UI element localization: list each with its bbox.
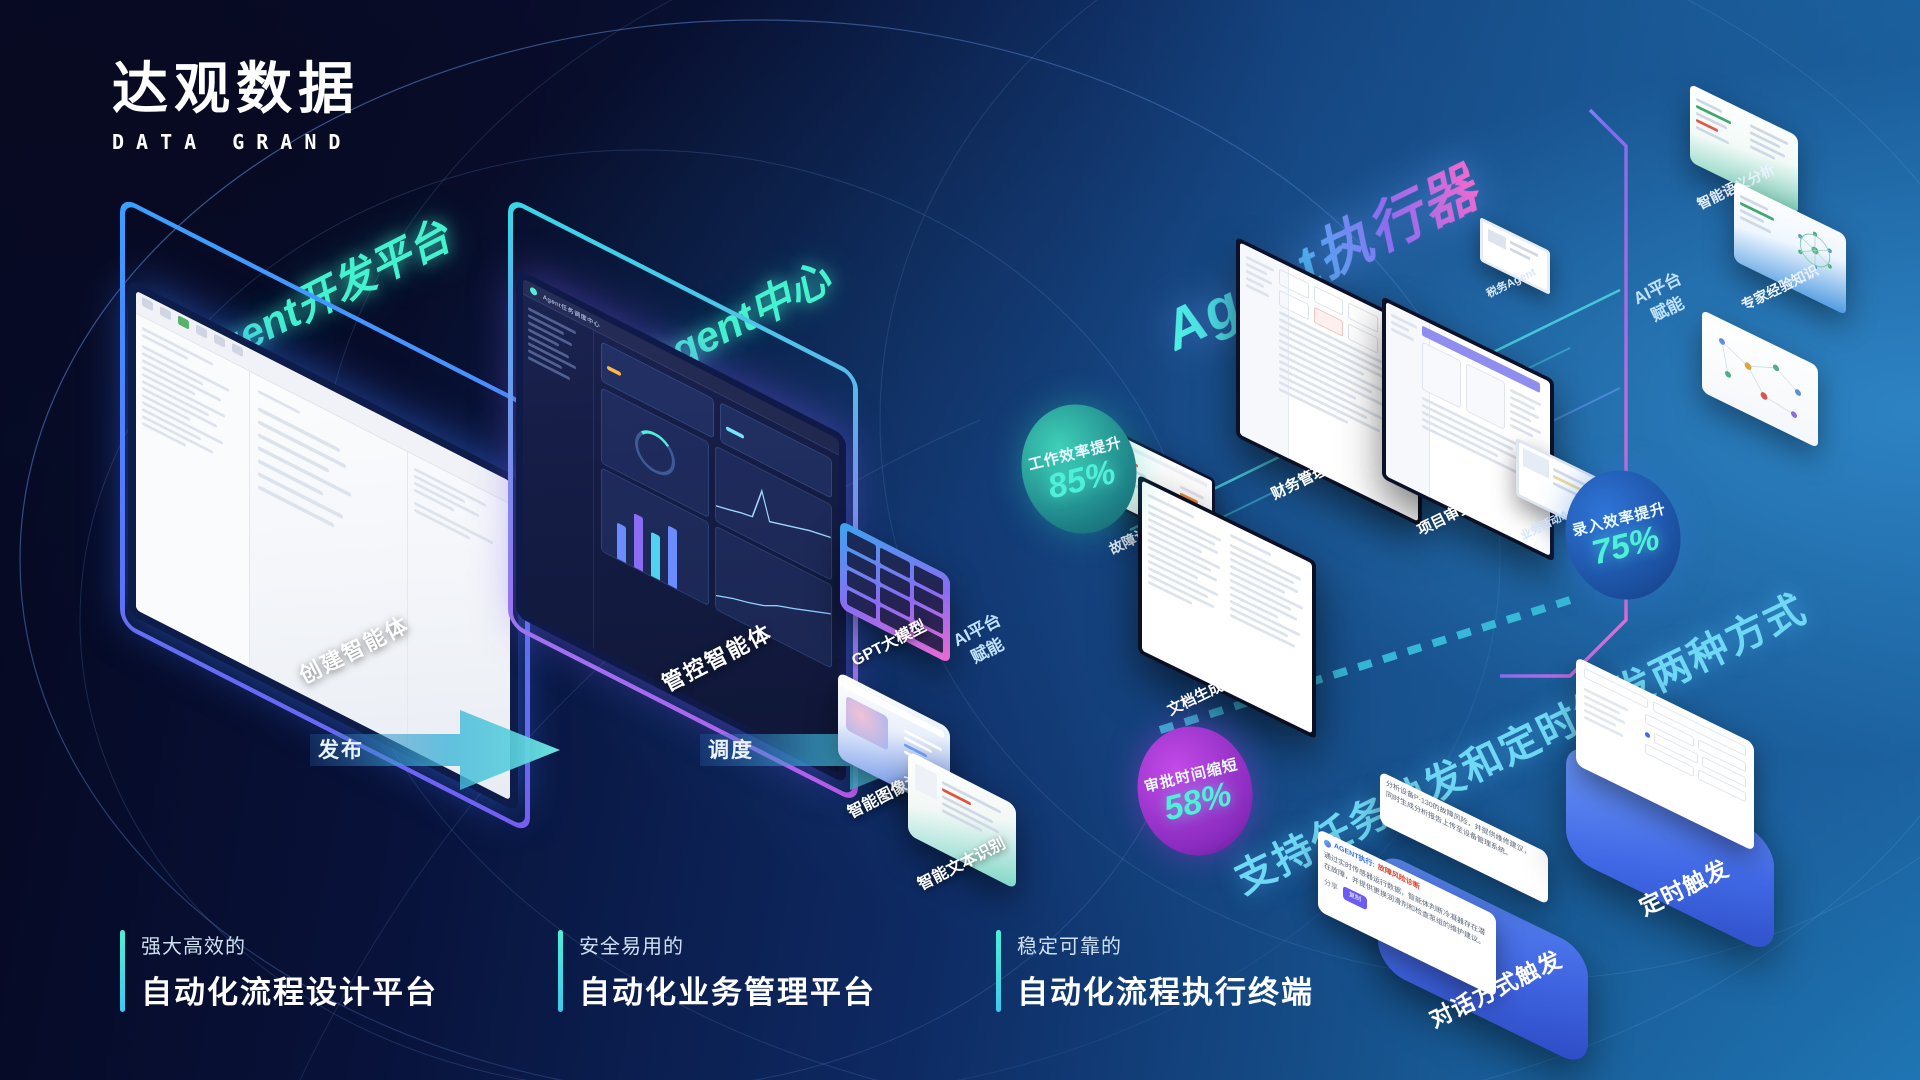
footer-caption-1-main: 自动化流程设计平台 [141,967,438,1012]
footer-caption-2-bar [558,930,563,1012]
chat-share-button[interactable]: 分享 [1324,877,1338,895]
footer-caption-3-main: 自动化流程执行终端 [1017,967,1314,1012]
arrow-publish: 发布 [310,700,570,815]
footer-caption-3: 稳定可靠的 自动化流程执行终端 [996,930,1314,1012]
footer-caption-1-sub: 强大高效的 [141,930,438,959]
brand-name-en: DATA GRAND [112,130,360,154]
device-project-review-agent [1382,296,1554,562]
card-knowledge-graph [1702,310,1818,449]
brand-name-cn: 达观数据 [112,62,360,118]
agent-avatar-icon [1324,838,1331,848]
footer-caption-2: 安全易用的 自动化业务管理平台 [558,930,876,1012]
arrow-dispatch-label: 调度 [708,734,754,764]
tag-ai-platform-right: AI平台 赋能 [1630,268,1696,332]
infographic-canvas: 达观数据 DATA GRAND Agent开发平台 [0,0,1920,1080]
footer-caption-1-bar [120,930,125,1012]
footer-captions: 强大高效的 自动化流程设计平台 安全易用的 自动化业务管理平台 稳定可靠的 自动… [120,930,1314,1012]
footer-caption-2-main: 自动化业务管理平台 [579,967,876,1012]
footer-caption-3-sub: 稳定可靠的 [1017,930,1314,959]
footer-caption-2-sub: 安全易用的 [579,930,876,959]
tag-ai-platform-center: AI平台 赋能 [950,609,1016,673]
brand-logo: 达观数据 DATA GRAND [112,62,360,154]
stat-badge-efficiency: 工作效率提升 85% [1008,392,1150,546]
footer-caption-1: 强大高效的 自动化流程设计平台 [120,930,438,1012]
arrow-publish-label: 发布 [318,734,364,764]
footer-caption-3-bar [996,930,1001,1012]
